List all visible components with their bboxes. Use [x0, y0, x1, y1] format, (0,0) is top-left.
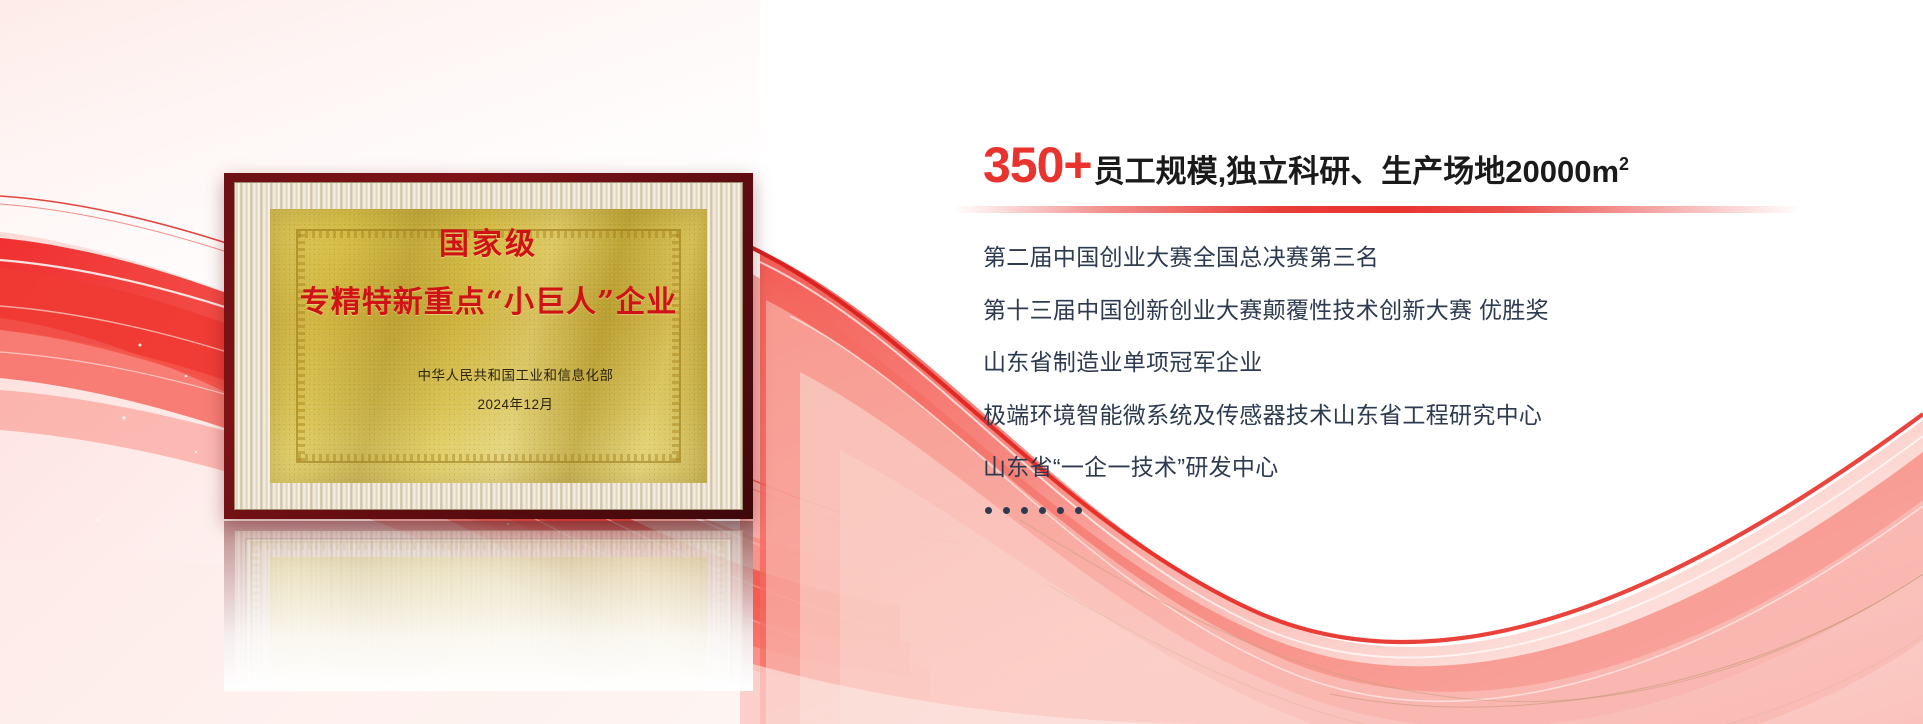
- more-items-text: ······: [983, 514, 984, 515]
- award-plaque: 国家级 专精特新重点“小巨人”企业 中华人民共和国工业和信息化部 2024年12…: [224, 173, 753, 519]
- content-column: 350+ 员工规模,独立科研、生产场地20000m 2 第二届中国创业大赛全国总…: [983, 140, 1863, 514]
- ellipsis-dot: [985, 507, 992, 514]
- plaque-reflection: [224, 521, 753, 691]
- honors-list: 第二届中国创业大赛全国总决赛第三名 第十三届中国创新创业大赛颠覆性技术创新大赛 …: [983, 244, 1863, 482]
- list-item: 山东省制造业单项冠军企业: [983, 349, 1863, 377]
- honors-banner: 国家级 专精特新重点“小巨人”企业 中华人民共和国工业和信息化部 2024年12…: [0, 0, 1923, 724]
- ellipsis-dot: [1075, 507, 1082, 514]
- headline-underline-rule: [953, 206, 1801, 213]
- headline-superscript: 2: [1619, 154, 1629, 175]
- list-item: 第十三届中国创新创业大赛颠覆性技术创新大赛 优胜奖: [983, 297, 1863, 325]
- ellipsis-dot: [1057, 507, 1064, 514]
- plaque-text-block: 国家级 专精特新重点“小巨人”企业 中华人民共和国工业和信息化部 2024年12…: [224, 173, 753, 519]
- plaque-date: 2024年12月: [477, 393, 553, 413]
- headline-metric-number: 350+: [983, 140, 1092, 190]
- plaque-subtitle: 专精特新重点“小巨人”企业: [300, 277, 678, 321]
- list-item: 极端环境智能微系统及传感器技术山东省工程研究中心: [983, 402, 1863, 430]
- ellipsis-dot: [1003, 507, 1010, 514]
- headline: 350+ 员工规模,独立科研、生产场地20000m 2: [983, 140, 1863, 190]
- plaque-title: 国家级: [439, 219, 538, 263]
- ellipsis-dot: [1021, 507, 1028, 514]
- list-item: 山东省“一企一技术”研发中心: [983, 454, 1863, 482]
- headline-metric-text: 员工规模,独立科研、生产场地20000m: [1094, 156, 1619, 187]
- list-item: 第二届中国创业大赛全国总决赛第三名: [983, 244, 1863, 272]
- more-items-ellipsis: [985, 507, 1863, 514]
- plaque-issuer: 中华人民共和国工业和信息化部: [418, 364, 614, 384]
- ellipsis-dot: [1039, 507, 1046, 514]
